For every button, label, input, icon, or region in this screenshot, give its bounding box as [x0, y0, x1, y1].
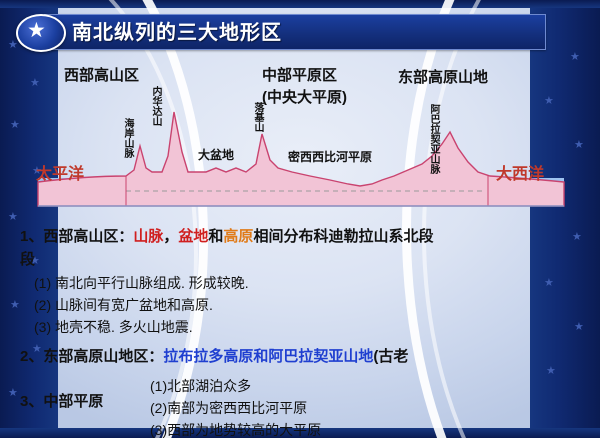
item2-head: 东部高原山地区： — [43, 348, 163, 365]
item1-number: 1、 — [20, 228, 43, 245]
item1-keyword-1: 山脉 — [133, 228, 163, 245]
item1-tail: 相间分布科迪勒拉山系北段 — [253, 228, 433, 245]
slide-root: ★ ★ ★ ★ ★ ★ ★ ★ ★ ★ ★ ★ ★ ★ ★ ★ ★ ★ 南北纵列… — [0, 0, 600, 438]
ocean-label-pacific: 太平洋 — [36, 160, 84, 184]
feature-label-mississippi-plain: 密西西比河平原 — [288, 148, 372, 165]
item2-keyword: 拉布拉多高原和阿巴拉契亚山地 — [163, 348, 373, 365]
feature-label-appalachian: 阿巴拉契亚山脉 — [428, 104, 439, 174]
item1-sub-2: (2) 山脉间有宽广盆地和高原. — [34, 295, 580, 315]
item3-heading: 3、中部平原 — [20, 390, 103, 411]
item3-number: 3、 — [20, 393, 43, 410]
feature-label-sierra-nevada: 内华达山 — [150, 86, 161, 126]
item1-keyword-2: 盆地 — [178, 228, 208, 245]
item1-head: 西部高山区： — [43, 228, 133, 245]
feature-label-great-basin: 大盆地 — [198, 146, 234, 163]
item1-sep-1: ， — [163, 228, 178, 245]
top-border-band — [0, 0, 600, 8]
item3-sub-2: (2)南部为密西西比河平原 — [150, 398, 307, 418]
item1-sub-3: (3) 地壳不稳. 多火山地震. — [34, 317, 580, 337]
region-label-central: 中部平原区 — [262, 64, 337, 85]
region-label-east: 东部高原山地 — [398, 66, 488, 87]
page-title: 南北纵列的三大地形区 — [72, 16, 282, 45]
landform-diagram: 西部高山区 中部平原区 (中央大平原) 东部高原山地 海岸山脉 内华达山 落基山… — [30, 60, 570, 220]
item2-row: 2、东部高原山地区：拉布拉多高原和阿巴拉契亚山地(古老 — [20, 345, 580, 366]
item1-keyword-3: 高原 — [223, 228, 253, 245]
item3-head: 中部平原 — [43, 393, 103, 410]
item2-tail: (古老 — [373, 348, 408, 365]
item3-block: 3、中部平原 (1)北部湖泊众多 (2)南部为密西西比河平原 (3)西部为地势较… — [20, 376, 580, 438]
star-badge-icon: ★ — [16, 10, 62, 52]
item3-sub-3: (3)西部为地势较高的大平原 — [150, 420, 321, 438]
item1-sub-1: (1) 南北向平行山脉组成. 形成较晚. — [34, 273, 580, 293]
item2-number: 2、 — [20, 348, 43, 365]
region-label-central-alt: (中央大平原) — [262, 86, 347, 107]
feature-label-coast-range: 海岸山脉 — [122, 118, 133, 158]
item1-heading-row: 1、西部高山区：山脉，盆地和高原相间分布科迪勒拉山系北段 — [20, 225, 580, 246]
item3-sub-1: (1)北部湖泊众多 — [150, 376, 251, 396]
item1-heading-wrap: 段 — [20, 248, 580, 269]
item1-sep-2: 和 — [208, 228, 223, 245]
ocean-label-atlantic: 大西洋 — [496, 160, 544, 184]
feature-label-rocky-mountains: 落基山 — [252, 102, 263, 132]
content-body: 1、西部高山区：山脉，盆地和高原相间分布科迪勒拉山系北段 段 (1) 南北向平行… — [20, 225, 580, 438]
region-label-west: 西部高山区 — [64, 64, 139, 85]
